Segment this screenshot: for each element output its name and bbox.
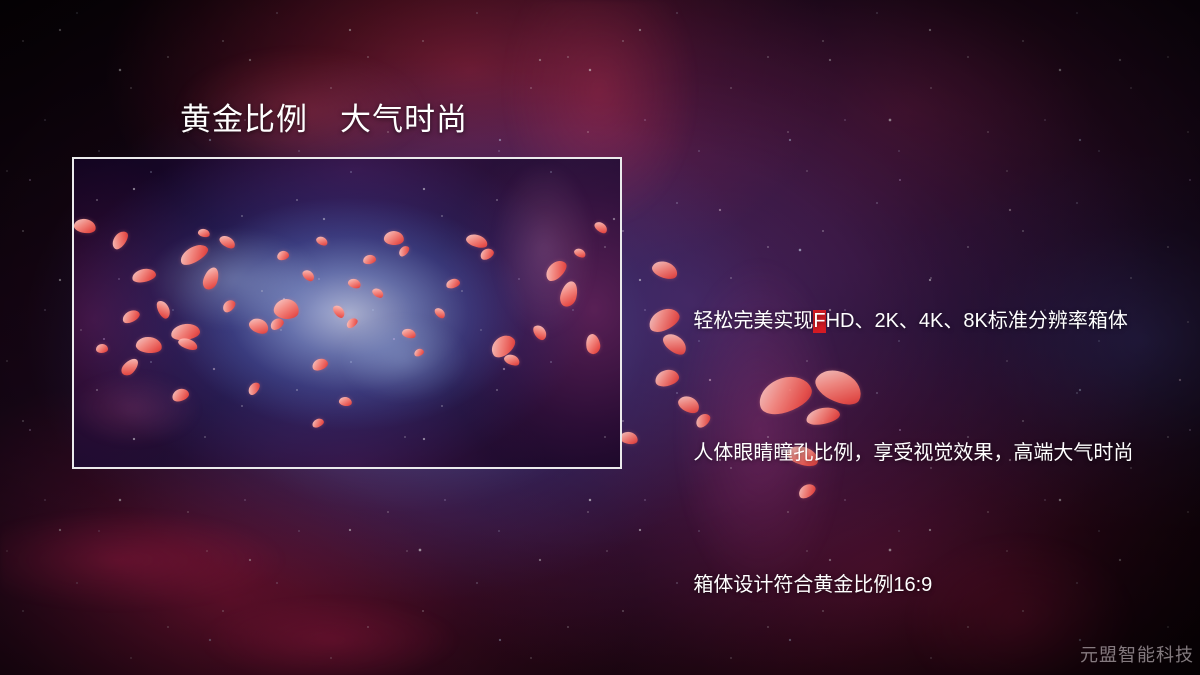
- page-title: 黄金比例 大气时尚: [180, 100, 468, 140]
- body-line-3-pre: 箱体设计符合黄金比例16:9: [693, 574, 932, 596]
- presentation-slide: 黄金比例 大气时尚 轻松完美实现FHD、2K、4K、8K标准分辨率箱体 人体眼睛…: [0, 0, 1200, 675]
- body-line-2: 人体眼睛瞳孔比例，享受视觉效果，高端大气时尚: [660, 387, 1180, 519]
- body-line-1-pre: 轻松完美实现: [693, 310, 813, 332]
- watermark: 元盟智能科技: [1080, 643, 1194, 667]
- picture-nebula-wisps: [74, 159, 620, 467]
- body-line-1-highlight: F: [813, 310, 825, 333]
- body-line-2-pre: 人体眼睛瞳孔比例，享受视觉效果，高端大气时尚: [693, 442, 1133, 464]
- body-line-1-post: HD、2K、4K、8K标准分辨率箱体: [826, 310, 1128, 332]
- body-text-block: 轻松完美实现FHD、2K、4K、8K标准分辨率箱体 人体眼睛瞳孔比例，享受视觉效…: [660, 255, 1180, 651]
- framed-picture: [72, 157, 622, 469]
- body-line-1: 轻松完美实现FHD、2K、4K、8K标准分辨率箱体: [660, 255, 1180, 387]
- body-line-3: 箱体设计符合黄金比例16:9: [660, 519, 1180, 651]
